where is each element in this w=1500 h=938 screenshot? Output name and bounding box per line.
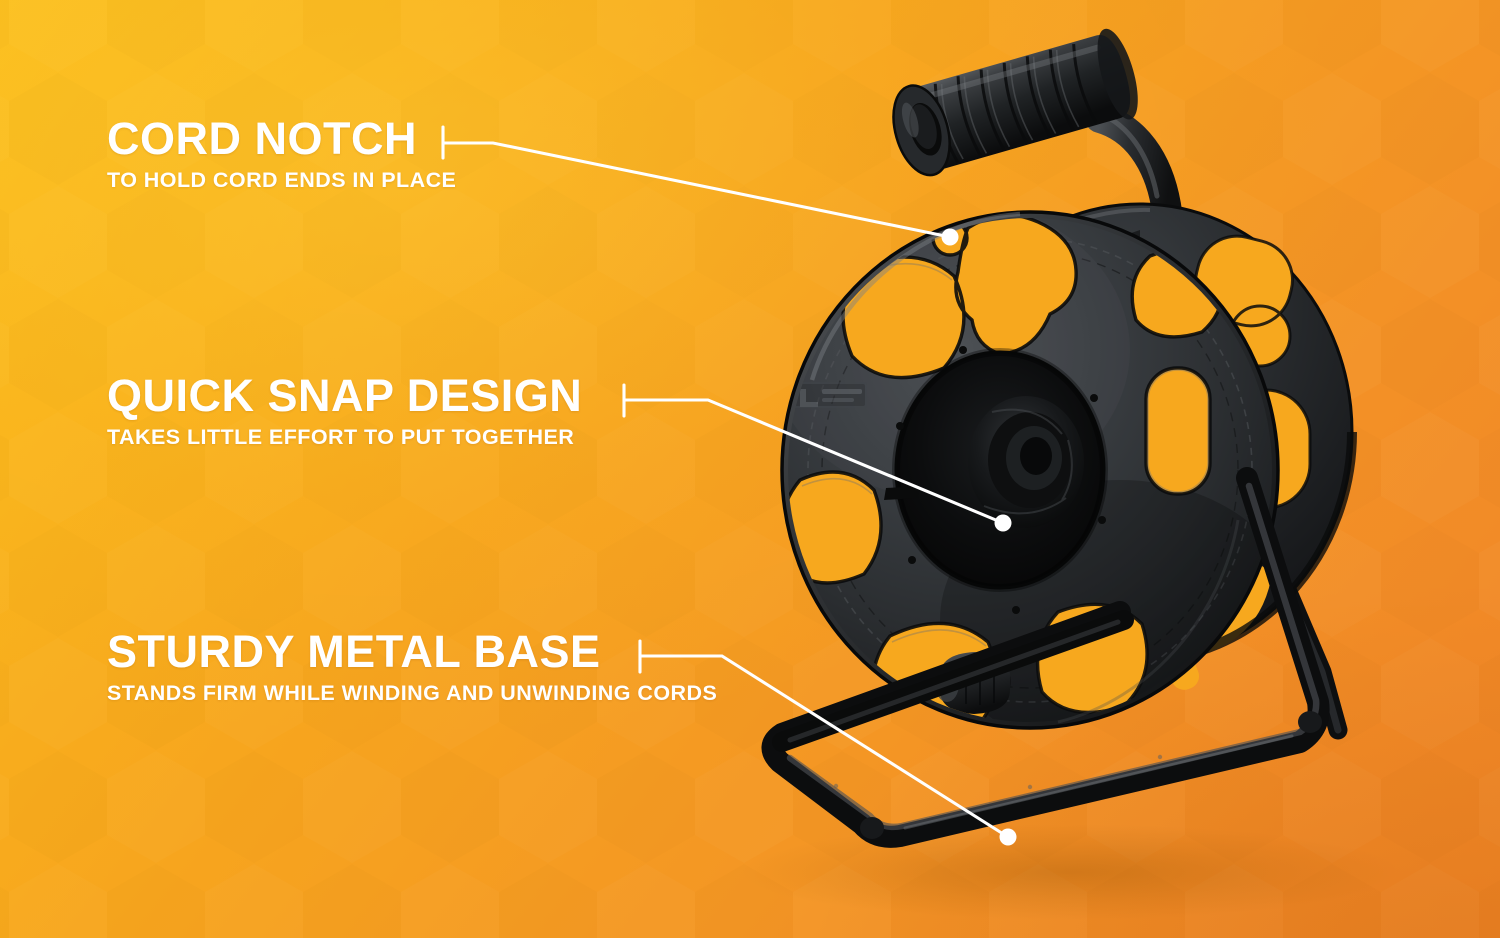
callout-title: QUICK SNAP DESIGN bbox=[107, 373, 582, 418]
callout-metal-base: STURDY METAL BASE STANDS FIRM WHILE WIND… bbox=[107, 629, 717, 705]
center-hub bbox=[896, 352, 1104, 588]
callout-cord-notch: CORD NOTCH TO HOLD CORD ENDS IN PLACE bbox=[107, 116, 456, 192]
ground-shadow bbox=[740, 824, 1400, 920]
ribbed-rubber-handle bbox=[884, 25, 1146, 183]
callout-subtitle: TAKES LITTLE EFFORT TO PUT TOGETHER bbox=[107, 427, 582, 449]
infographic-canvas: CORD NOTCH TO HOLD CORD ENDS IN PLACE QU… bbox=[0, 0, 1500, 938]
callout-subtitle: TO HOLD CORD ENDS IN PLACE bbox=[107, 170, 456, 192]
brand-emblem bbox=[793, 382, 867, 408]
callout-title: STURDY METAL BASE bbox=[107, 629, 717, 674]
callout-subtitle: STANDS FIRM WHILE WINDING AND UNWINDING … bbox=[107, 683, 717, 705]
callout-quick-snap: QUICK SNAP DESIGN TAKES LITTLE EFFORT TO… bbox=[107, 373, 582, 449]
callout-title: CORD NOTCH bbox=[107, 116, 456, 161]
quick-snap-tab bbox=[884, 486, 920, 500]
